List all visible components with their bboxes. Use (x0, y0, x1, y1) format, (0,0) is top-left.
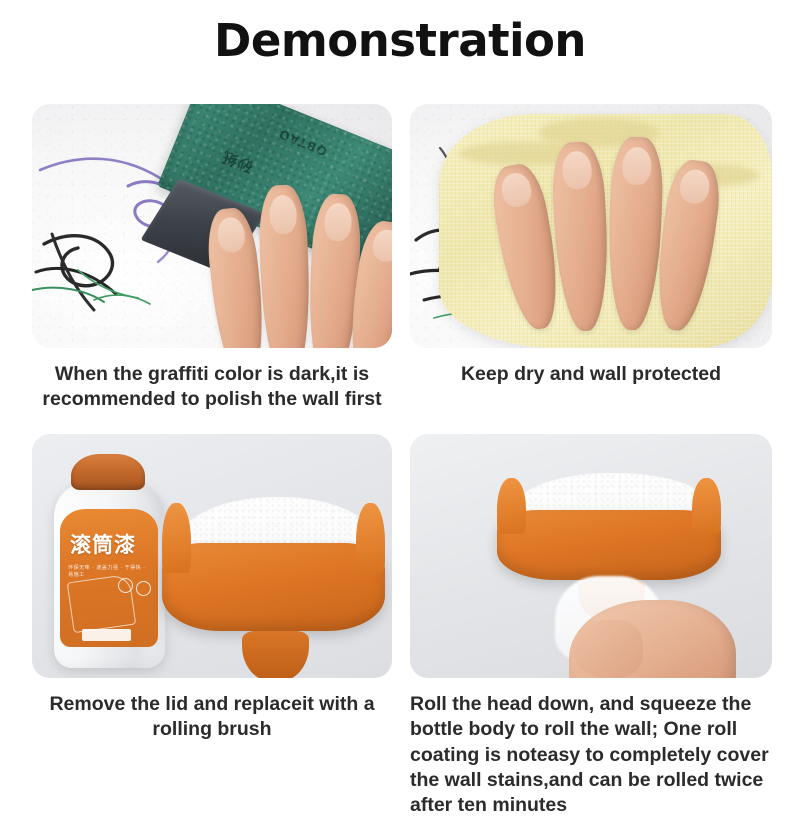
fingernail (323, 203, 352, 242)
roller-neck-connector (242, 631, 309, 678)
step-card-2: Keep dry and wall protected (410, 104, 772, 387)
roller-arm-right (692, 478, 721, 534)
bottle-cap (71, 454, 145, 491)
step-3-caption: Remove the lid and replaceit with a roll… (32, 692, 392, 743)
roller-brush-head (162, 497, 385, 648)
step-2-caption: Keep dry and wall protected (410, 362, 772, 387)
roller-arm-left (497, 478, 526, 534)
roller-frame (162, 543, 385, 631)
paint-bottle: 滚筒漆 环保无味 · 遮盖力强 · 干得快 · 易施工 (54, 454, 166, 669)
step-card-3: 滚筒漆 环保无味 · 遮盖力强 · 干得快 · 易施工 Remove the l… (32, 434, 392, 743)
bottle-label-badge (118, 578, 133, 593)
fingernail (500, 171, 534, 209)
roller-frame (497, 510, 721, 581)
roller-arm-right (356, 503, 385, 573)
hand (497, 128, 721, 348)
step-1-caption: When the graffiti color is dark,it is re… (32, 362, 392, 413)
fingernail (622, 147, 652, 187)
step-3-photo-bottle-and-roller: 滚筒漆 环保无味 · 遮盖力强 · 干得快 · 易施工 (32, 434, 392, 678)
finger (550, 141, 611, 332)
page-title: Demonstration (0, 14, 800, 67)
fingernail (269, 195, 297, 235)
roller-arm-left (162, 503, 191, 573)
fingernail (562, 151, 593, 190)
step-card-4: Roll the head down, and squeeze the bott… (410, 434, 772, 819)
step-1-photo-sanding-wall: QBTAO 砂纸 S12 (32, 104, 392, 348)
bottle-label-weight-strip (82, 629, 131, 641)
bottle-label: 滚筒漆 环保无味 · 遮盖力强 · 干得快 · 易施工 (60, 509, 158, 646)
sanding-block-print: QBTAO (277, 126, 330, 158)
fingernail (678, 167, 711, 205)
hand (205, 167, 392, 348)
thumb (573, 620, 643, 678)
step-2-photo-wiping-wall (410, 104, 772, 348)
fingernail (370, 228, 392, 264)
bottle-label-main-text: 滚筒漆 (70, 529, 154, 559)
finger (258, 185, 313, 348)
step-card-1: QBTAO 砂纸 S12 Wh (32, 104, 392, 413)
bottle-label-badge (136, 581, 151, 596)
step-4-photo-rolling-wall (410, 434, 772, 678)
fingernail (215, 216, 246, 254)
finger (606, 137, 664, 332)
